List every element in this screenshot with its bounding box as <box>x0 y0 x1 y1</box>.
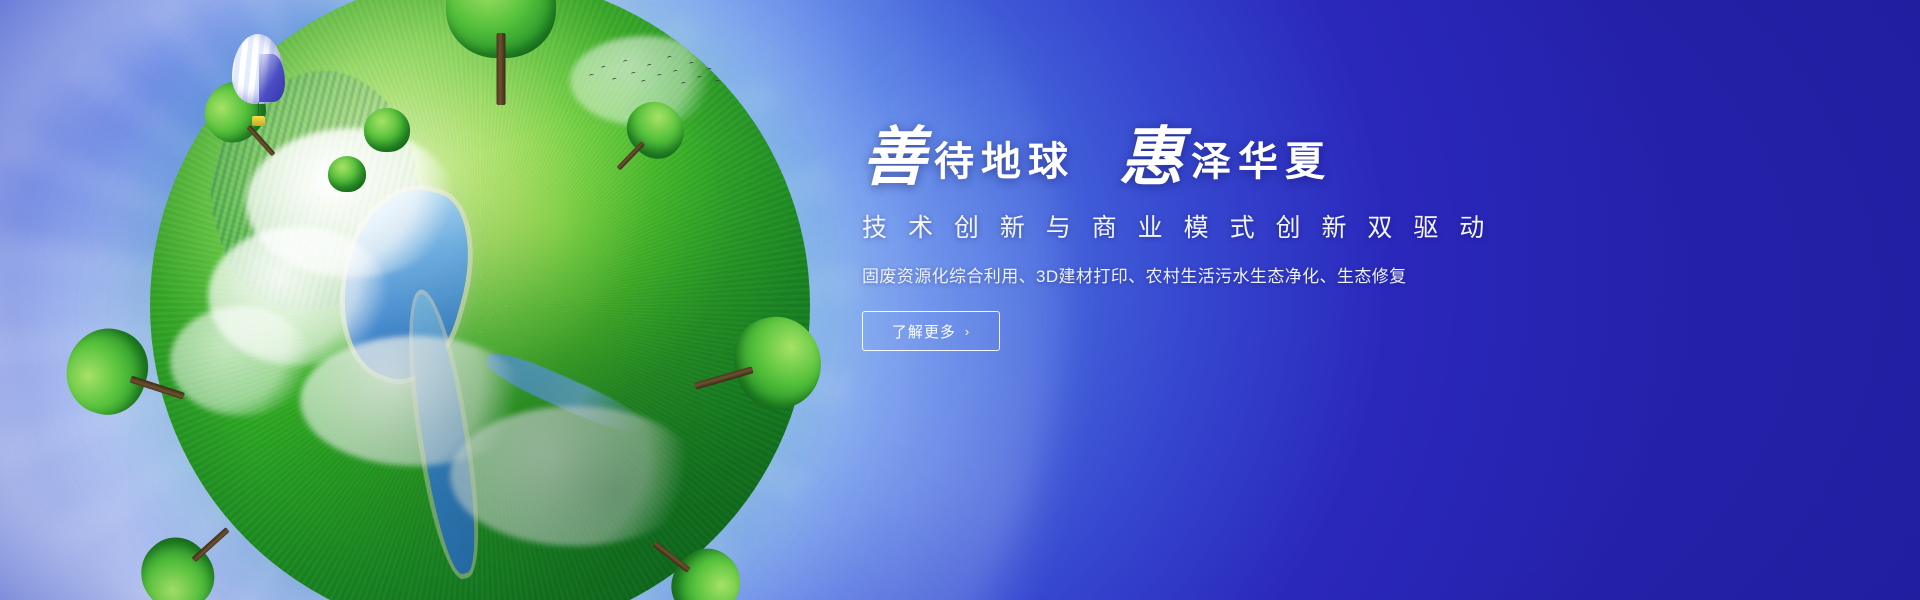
globe-cloud <box>208 226 388 366</box>
globe-cloud <box>170 306 310 416</box>
learn-more-label: 了解更多 <box>892 321 956 342</box>
globe-mountain-ridge <box>180 49 451 333</box>
tree-icon <box>633 516 753 600</box>
globe-river <box>401 289 486 579</box>
flock-of-birds-icon <box>585 48 725 96</box>
cloud-streaks <box>0 0 860 600</box>
tree-icon <box>446 0 556 104</box>
globe-river-branch <box>481 345 649 442</box>
hero-content: 善 待地球 惠 泽华夏 技 术 创 新 与 商 业 模 式 创 新 双 驱 动 … <box>862 122 1422 351</box>
hero-banner: 善 待地球 惠 泽华夏 技 术 创 新 与 商 业 模 式 创 新 双 驱 动 … <box>0 0 1920 600</box>
headline-emphasis-2: 惠 <box>1119 126 1183 190</box>
tree-icon <box>598 90 695 188</box>
balloon-envelope <box>232 34 284 104</box>
globe-cloud <box>300 336 530 466</box>
globe-lake <box>322 175 488 390</box>
tree-icon <box>126 503 251 600</box>
headline-rest-2: 泽华夏 <box>1183 142 1332 182</box>
tree-icon <box>364 108 410 154</box>
learn-more-button[interactable]: 了解更多 › <box>862 311 1000 351</box>
atmosphere-haze <box>0 250 380 600</box>
page-description: 固废资源化综合利用、3D建材打印、农村生活污水生态净化、生态修复 <box>862 262 1422 287</box>
balloon-basket <box>252 116 265 126</box>
tree-icon <box>683 307 831 431</box>
globe-cloud <box>246 128 456 278</box>
atmosphere-haze <box>0 120 670 600</box>
globe-cloud <box>450 406 700 546</box>
chevron-right-icon: › <box>965 324 970 339</box>
page-subtitle: 技 术 创 新 与 商 业 模 式 创 新 双 驱 动 <box>862 208 1422 244</box>
headline-rest-1: 待地球 <box>926 142 1075 182</box>
hot-air-balloon-icon <box>232 34 288 130</box>
tree-icon <box>328 156 366 194</box>
atmosphere-haze <box>0 0 906 600</box>
headline-emphasis-1: 善 <box>862 126 926 190</box>
page-title: 善 待地球 惠 泽华夏 <box>862 122 1422 186</box>
tree-icon <box>56 318 197 437</box>
